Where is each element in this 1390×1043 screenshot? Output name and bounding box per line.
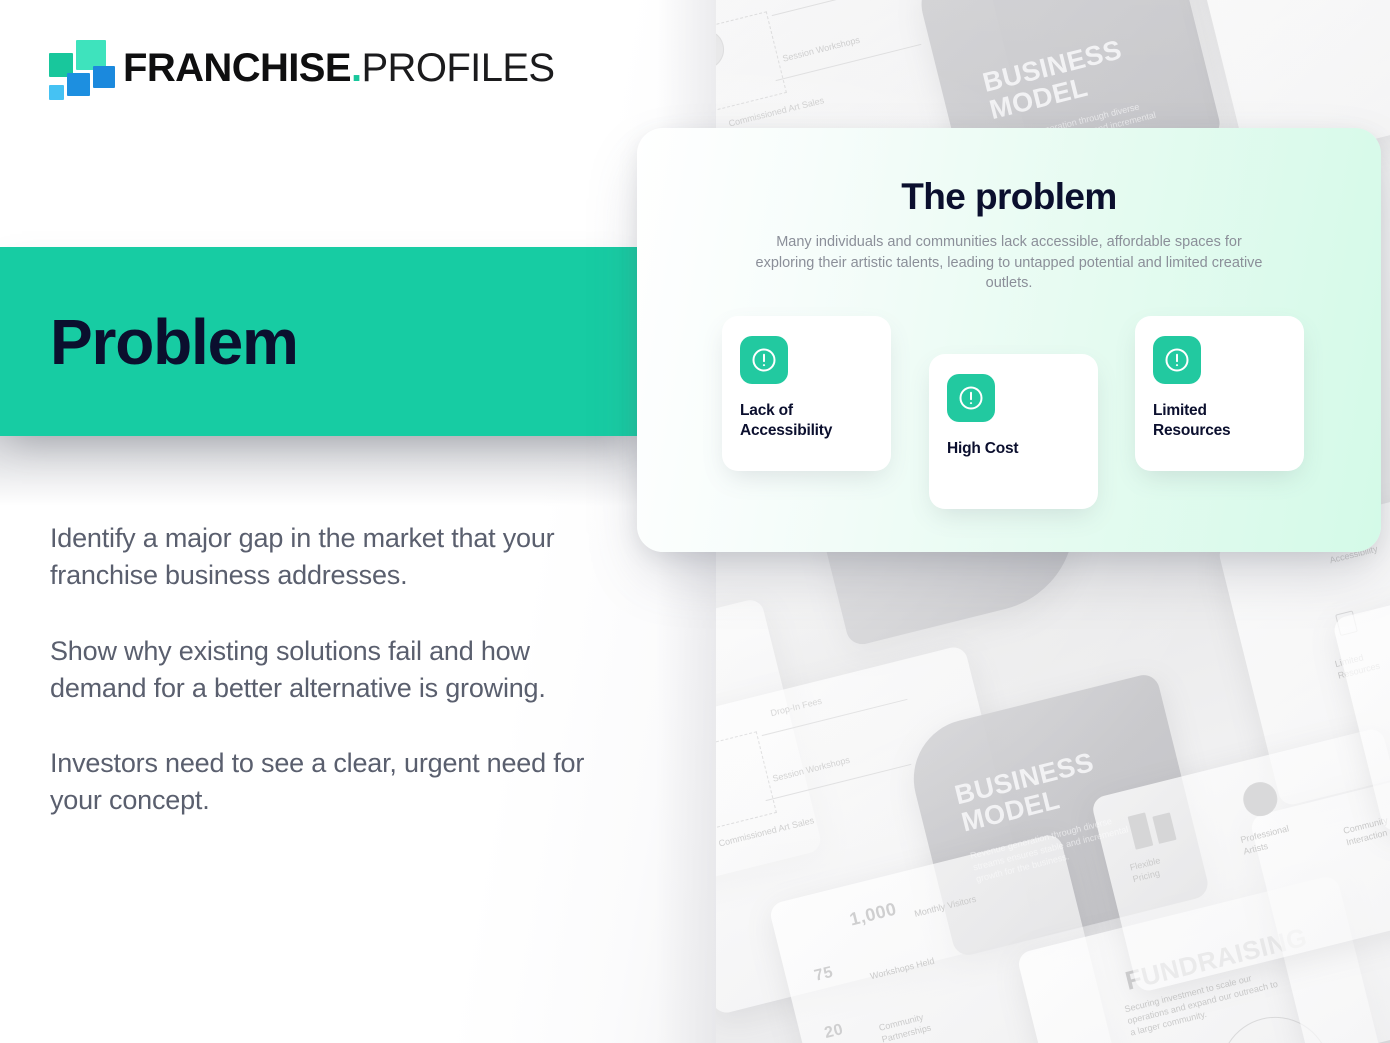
- ghost-slide-text: Drop-In Fees: [769, 695, 823, 719]
- ghost-feature-label: Flexible Pricing: [1129, 850, 1183, 886]
- alert-circle-icon: [947, 374, 995, 422]
- slide-preview-card[interactable]: The problem Many individuals and communi…: [637, 128, 1381, 552]
- preview-tile-group: Lack of Accessibility High Cost Limi: [637, 316, 1381, 526]
- description-paragraph-3: Investors need to see a clear, urgent ne…: [50, 745, 630, 820]
- alert-circle-icon: [740, 336, 788, 384]
- preview-title: The problem: [637, 176, 1381, 218]
- ghost-stat-label: Monthly Visitors: [913, 893, 977, 920]
- ghost-stat-label: Community Partnerships: [878, 1008, 942, 1043]
- brand-name-light: PROFILES: [361, 48, 554, 88]
- brand-wordmark: FRANCHISE.PROFILES: [123, 48, 555, 88]
- ghost-stat-value: 75: [812, 962, 835, 987]
- logo-square-blue-right: [93, 66, 115, 88]
- description-block: Identify a major gap in the market that …: [50, 520, 630, 820]
- preview-tile-label: Limited Resources: [1153, 401, 1286, 442]
- ghost-stat-value: 20: [822, 1019, 845, 1043]
- ghost-stat-label: Workshops Held: [869, 955, 936, 983]
- preview-tile-high-cost[interactable]: High Cost: [929, 354, 1098, 509]
- ghost-dashed-box: [715, 11, 787, 113]
- preview-subtitle: Many individuals and communities lack ac…: [749, 232, 1269, 294]
- ghost-gear-icon: [1240, 779, 1281, 820]
- logo-square-blue-mid: [67, 73, 90, 96]
- ghost-feature-label: Professional Artists: [1239, 821, 1299, 858]
- alert-circle-icon: [1153, 336, 1201, 384]
- brand-logo[interactable]: FRANCHISE.PROFILES: [49, 40, 555, 96]
- preview-tile-limited-resources[interactable]: Limited Resources: [1135, 316, 1304, 471]
- description-paragraph-2: Show why existing solutions fail and how…: [50, 633, 630, 708]
- ghost-divider: [772, 0, 918, 16]
- preview-tile-lack-of-accessibility[interactable]: Lack of Accessibility: [722, 316, 891, 471]
- ghost-stat-value: 1,000: [847, 897, 899, 932]
- brand-name-strong: FRANCHISE: [123, 48, 351, 88]
- description-paragraph-1: Identify a major gap in the market that …: [50, 520, 630, 595]
- logo-square-cyan-small: [49, 85, 64, 100]
- ghost-dashed-box: [715, 731, 777, 833]
- preview-tile-label: Lack of Accessibility: [740, 401, 873, 442]
- ghost-slide-text: Session Workshops: [781, 34, 861, 65]
- page-title: Problem: [50, 310, 298, 374]
- brand-name-dot: .: [351, 48, 362, 88]
- squares-logo-icon: [49, 40, 107, 96]
- ghost-bar: [1152, 812, 1176, 844]
- section-banner: Problem: [0, 247, 637, 436]
- ghost-slide-text: Session Workshops: [771, 754, 851, 785]
- preview-tile-label: High Cost: [947, 439, 1080, 459]
- ghost-bar: [1128, 812, 1154, 849]
